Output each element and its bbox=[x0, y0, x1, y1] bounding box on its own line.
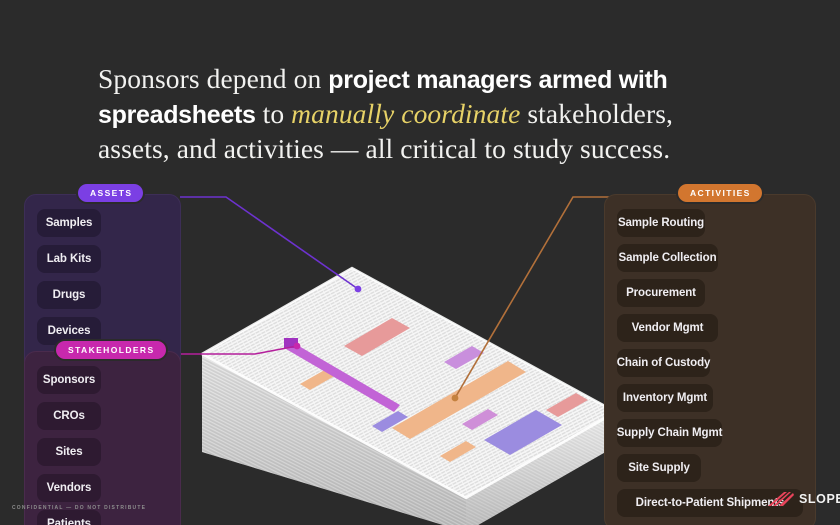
panel-activities-body: Sample Routing Sample Collection Procure… bbox=[604, 194, 816, 525]
tile-activities-vendor-mgmt[interactable]: Vendor Mgmt bbox=[617, 314, 718, 342]
tile-activities-supply-chain-mgmt[interactable]: Supply Chain Mgmt bbox=[617, 419, 722, 447]
tile-stakeholders-sponsors[interactable]: Sponsors bbox=[37, 366, 101, 394]
slope-logo-text: SLOPE bbox=[799, 492, 840, 506]
tile-activities-site-supply[interactable]: Site Supply bbox=[617, 454, 701, 482]
tile-activities-chain-of-custody[interactable]: Chain of Custody bbox=[617, 349, 710, 377]
slope-logo: SLOPE bbox=[768, 491, 840, 507]
isometric-spreadsheet-stack bbox=[196, 262, 636, 525]
headline-emphasis: manually coordinate bbox=[291, 98, 520, 129]
badge-activities: ACTIVITIES bbox=[678, 184, 762, 202]
tile-activities-inventory-mgmt[interactable]: Inventory Mgmt bbox=[617, 384, 713, 412]
tile-stakeholders-patients[interactable]: Patients bbox=[37, 510, 101, 525]
badge-assets: ASSETS bbox=[78, 184, 143, 202]
panel-stakeholders-body: Sponsors CROs Sites Vendors Patients Lab… bbox=[24, 351, 181, 525]
tile-stakeholders-vendors[interactable]: Vendors bbox=[37, 474, 101, 502]
confidential-note: CONFIDENTIAL — DO NOT DISTRIBUTE bbox=[12, 505, 146, 511]
tile-assets-drugs[interactable]: Drugs bbox=[37, 281, 101, 309]
tile-stakeholders-cros[interactable]: CROs bbox=[37, 402, 101, 430]
badge-stakeholders: STAKEHOLDERS bbox=[56, 341, 166, 359]
tile-activities-sample-collection[interactable]: Sample Collection bbox=[617, 244, 718, 272]
tile-assets-samples[interactable]: Samples bbox=[37, 209, 101, 237]
tile-assets-lab-kits[interactable]: Lab Kits bbox=[37, 245, 101, 273]
headline-part1: Sponsors depend on bbox=[98, 63, 328, 94]
page-title: Sponsors depend on project managers arme… bbox=[98, 62, 748, 166]
tile-activities-sample-routing[interactable]: Sample Routing bbox=[617, 209, 705, 237]
slide-canvas: Sponsors depend on project managers arme… bbox=[0, 0, 840, 525]
headline-part2: to bbox=[256, 98, 292, 129]
tile-stakeholders-sites[interactable]: Sites bbox=[37, 438, 101, 466]
panel-activities: ACTIVITIES Sample Routing Sample Collect… bbox=[604, 194, 816, 525]
panel-stakeholders: STAKEHOLDERS Sponsors CROs Sites Vendors… bbox=[24, 351, 181, 525]
slope-mark-icon bbox=[768, 491, 794, 507]
tile-activities-procurement[interactable]: Procurement bbox=[617, 279, 705, 307]
